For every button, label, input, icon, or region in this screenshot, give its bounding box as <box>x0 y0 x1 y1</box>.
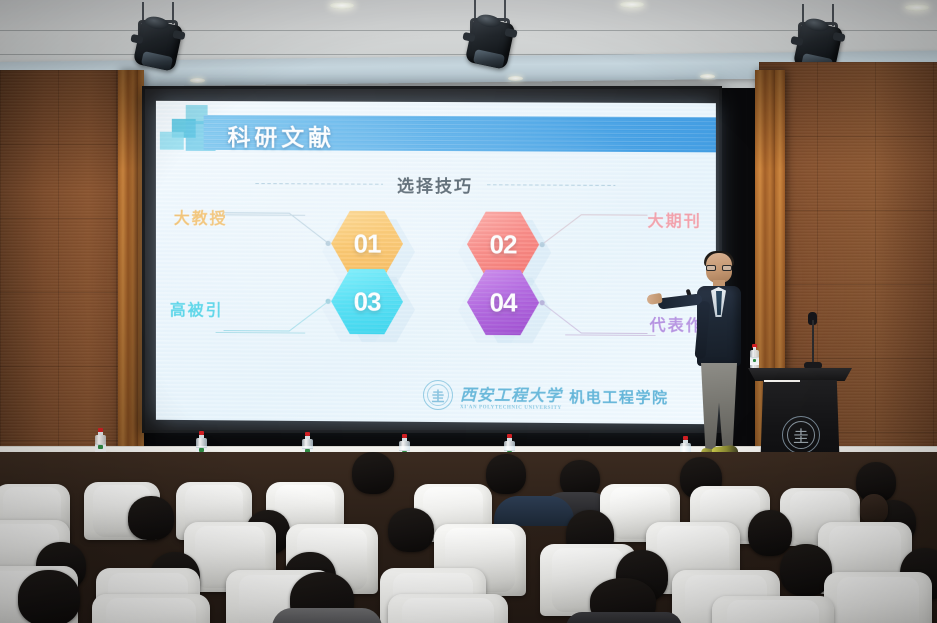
hexagon-diagram: 大教授 01 02 大期刊 高被引 03 <box>156 200 716 374</box>
school-name-cn: 机电工程学院 <box>569 386 668 408</box>
hex-label-03: 高被引 <box>170 296 224 320</box>
seat <box>712 596 834 623</box>
audience-head <box>128 496 174 540</box>
presenter-trousers <box>701 363 737 449</box>
university-name-cn-text: 西安工程大学 <box>460 387 562 405</box>
soffit-downlight <box>190 78 205 83</box>
presentation-slide: 科研文献 选择技巧 <box>156 101 716 424</box>
university-name-en: XI'AN POLYTECHNIC UNIVERSITY <box>460 405 562 411</box>
audience-head <box>388 508 434 552</box>
projection-screen: 科研文献 选择技巧 <box>142 86 722 433</box>
stage-spotlight-icon <box>130 2 186 74</box>
audience-head <box>352 452 394 494</box>
microphone-base <box>804 362 822 369</box>
soffit-downlight <box>700 74 715 79</box>
seat <box>388 594 508 623</box>
hex-label-01: 大教授 <box>174 205 228 229</box>
lectern-university-seal-icon <box>782 416 820 454</box>
lecture-hall-scene: 科研文献 选择技巧 <box>0 0 937 623</box>
microphone-stem <box>812 320 814 368</box>
connector-lines <box>156 200 716 374</box>
left-stage-curtain <box>118 70 144 468</box>
hex-label-02: 大期刊 <box>648 207 702 231</box>
university-seal-icon <box>423 380 453 410</box>
ceiling-downlight <box>330 2 354 9</box>
stage-spotlight-icon <box>462 0 518 72</box>
slide-title: 科研文献 <box>228 118 336 152</box>
glasses-icon <box>706 265 732 271</box>
hexagon-04: 04 <box>467 268 539 337</box>
ceiling-downlight <box>620 1 644 8</box>
audience-shoulders <box>566 612 682 623</box>
audience-head <box>860 494 888 524</box>
audience-head <box>18 570 80 623</box>
hexagon-03: 03 <box>331 267 403 335</box>
hex-number-04: 04 <box>467 268 539 337</box>
university-name-cn: 西安工程大学 XI'AN POLYTECHNIC UNIVERSITY <box>460 381 562 411</box>
lectern-top <box>748 368 852 381</box>
presenter <box>680 253 756 469</box>
audience-head <box>748 510 792 556</box>
slide-footer-logo: 西安工程大学 XI'AN POLYTECHNIC UNIVERSITY 机电工程… <box>423 380 669 412</box>
slide-subtitle-row: 选择技巧 <box>156 169 716 200</box>
left-wood-wall <box>0 70 126 470</box>
audience-seating <box>0 452 937 623</box>
ceiling-downlight <box>905 4 929 11</box>
slide-subtitle: 选择技巧 <box>397 171 473 196</box>
subtitle-dash-left <box>255 183 383 185</box>
audience-shoulders <box>272 608 382 623</box>
subtitle-dash-right <box>487 184 615 186</box>
soffit-downlight <box>508 76 523 81</box>
seat <box>92 594 210 623</box>
seat <box>824 572 932 623</box>
audience-head <box>486 454 526 494</box>
audience-shoulders <box>494 496 574 526</box>
hex-number-03: 03 <box>331 267 403 335</box>
